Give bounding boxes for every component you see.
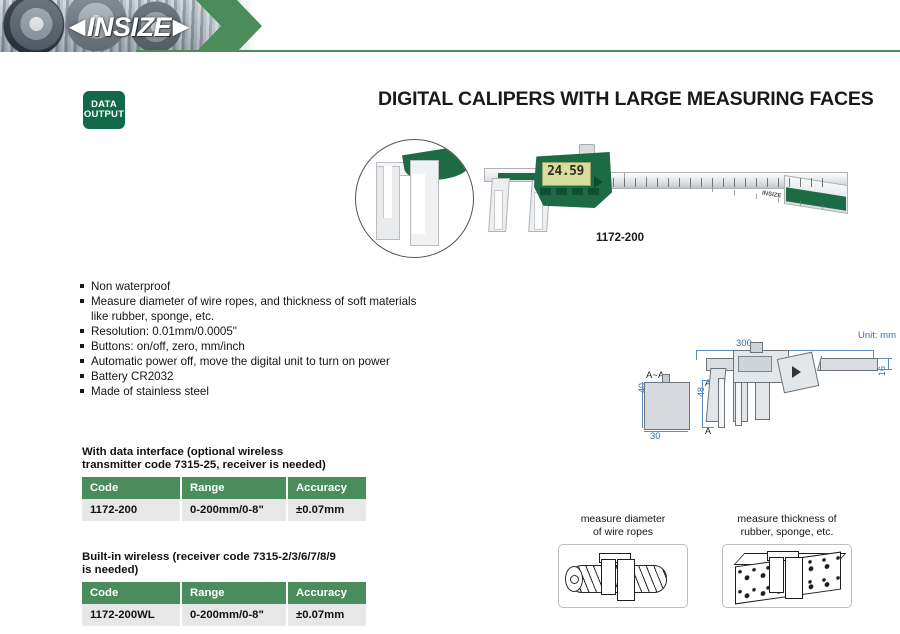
dimension-section-width: 30 [650,431,661,442]
dimline-length-tick-left [696,350,697,360]
drawing-jaw-fixed-face [718,378,725,428]
bullet-square-icon [80,385,91,393]
table-header-row: Code Range Accuracy [82,477,366,499]
drawing-beam-right [820,358,878,371]
bullet-square-icon [80,340,91,348]
list-item: Automatic power off, move the digital un… [80,355,430,370]
cell-code: 1172-200WL [82,604,181,626]
dimline-height-vertical [888,358,889,370]
page-title: DIGITAL CALIPERS WITH LARGE MEASURING FA… [378,88,878,111]
detail-jaw-left-face [383,166,392,218]
cell-code: 1172-200 [82,499,181,521]
caliper-jaw-graphic-right [617,559,635,601]
list-item: Non waterproof [80,280,430,295]
caliper-jaw-fixed-face [494,190,503,230]
caliper-lcd-value: 24.59 [544,164,587,179]
table-caption: With data interface (optional wireless t… [82,446,338,473]
column-header-code: Code [82,477,181,499]
caliper-jaw-graphic-left [769,557,784,593]
caliper-thumb-roller-icon [594,176,603,188]
bullet-square-icon [80,370,91,378]
product-model-label: 1172-200 [560,232,680,244]
caliper-jaw-graphic-right [785,557,803,599]
table-row: 1172-200 0-200mm/0-8" ±0.07mm [82,499,366,521]
column-header-range: Range [181,582,287,604]
logo-right-arrow-icon: ▶ [173,17,188,37]
data-output-badge: DATA OUTPUT [83,91,125,129]
jaw-detail-closeup [355,139,474,258]
dimension-jaw-depth: 48 [696,387,706,397]
caliper-product-image: 24.59 INSIZE [484,140,856,240]
feature-list: Non waterproof Measure diameter of wire … [80,280,430,400]
caption-line-1: measure diameter [558,513,688,526]
detail-jaw-right-face [412,174,425,234]
cell-accuracy: ±0.07mm [287,499,366,521]
feature-text: Battery CR2032 [91,370,430,385]
list-item: Made of stainless steel [80,385,430,400]
section-view-block [644,382,690,430]
wire-rope-end-face [565,566,583,592]
use-case-wire-ropes: measure diameter of wire ropes [558,513,688,608]
header-divider [136,50,900,52]
bullet-square-icon [80,355,91,363]
logo-left-arrow-icon: ◀ [70,17,85,37]
dimline-section-width [644,431,688,432]
feature-text: Non waterproof [91,280,430,295]
feature-text: Automatic power off, move the digital un… [91,355,430,370]
column-header-code: Code [82,582,181,604]
list-item: Resolution: 0.01mm/0.0005" [80,325,430,340]
badge-line-2: OUTPUT [84,110,124,120]
spec-table: Code Range Accuracy 1172-200WL 0-200mm/0… [82,582,366,626]
caliper-buttons [540,188,604,195]
logo-wordmark: INSIZE [87,12,171,43]
bullet-square-icon [80,295,91,303]
dimline-depth-tick-bottom [702,427,714,428]
feature-text: Measure diameter of wire ropes, and thic… [91,295,430,324]
use-case-caption: measure thickness of rubber, sponge, etc… [722,513,852,539]
feature-text: Made of stainless steel [91,385,430,400]
use-case-illustration [558,544,688,608]
table-row: 1172-200WL 0-200mm/0-8" ±0.07mm [82,604,366,626]
list-item: Buttons: on/off, zero, mm/inch [80,340,430,355]
insize-logo: ◀ INSIZE ▶ [44,12,214,42]
dimline-section-height [642,382,643,428]
caption-line-2: rubber, sponge, etc. [722,526,852,539]
use-case-rubber-sponge: measure thickness of rubber, sponge, etc… [722,513,852,608]
drawing-jaw-middle-face [735,380,742,426]
drawing-lock-screw [750,342,763,353]
bullet-square-icon [80,325,91,333]
column-header-accuracy: Accuracy [287,477,366,499]
use-case-caption: measure diameter of wire ropes [558,513,688,539]
column-header-accuracy: Accuracy [287,582,366,604]
technical-drawing: Unit: mm 300 16 48 40 30 A~A A A [640,330,898,458]
use-case-illustration [722,544,852,608]
spec-table-block-data-interface: With data interface (optional wireless t… [82,446,338,521]
feature-text: Resolution: 0.01mm/0.0005" [91,325,430,340]
list-item: Battery CR2032 [80,370,430,385]
table-header-row: Code Range Accuracy [82,582,366,604]
column-header-range: Range [181,477,287,499]
spec-table-block-builtin-wireless: Built-in wireless (receiver code 7315-2/… [82,551,338,626]
caption-line-2: of wire ropes [558,526,688,539]
drawing-unit-label: Unit: mm [858,330,896,341]
dimline-depth-vertical [702,380,703,428]
dimension-beam-height: 16 [877,366,887,376]
cell-accuracy: ±0.07mm [287,604,366,626]
cell-range: 0-200mm/0-8" [181,499,287,521]
page-header: ◀ INSIZE ▶ [0,0,900,52]
catalog-page: ◀ INSIZE ▶ DATA OUTPUT DIGITAL CALIPERS … [0,0,900,634]
feature-text: Buttons: on/off, zero, mm/inch [91,340,430,355]
bullet-square-icon [80,280,91,288]
drawing-lcd [738,356,772,372]
table-caption: Built-in wireless (receiver code 7315-2/… [82,551,338,578]
spec-table: Code Range Accuracy 1172-200 0-200mm/0-8… [82,477,366,521]
caliper-jaw-graphic-left [601,559,616,595]
drawing-thumb-roller-icon [792,366,801,378]
caption-line-1: measure thickness of [722,513,852,526]
list-item: Measure diameter of wire ropes, and thic… [80,295,430,324]
cell-range: 0-200mm/0-8" [181,604,287,626]
